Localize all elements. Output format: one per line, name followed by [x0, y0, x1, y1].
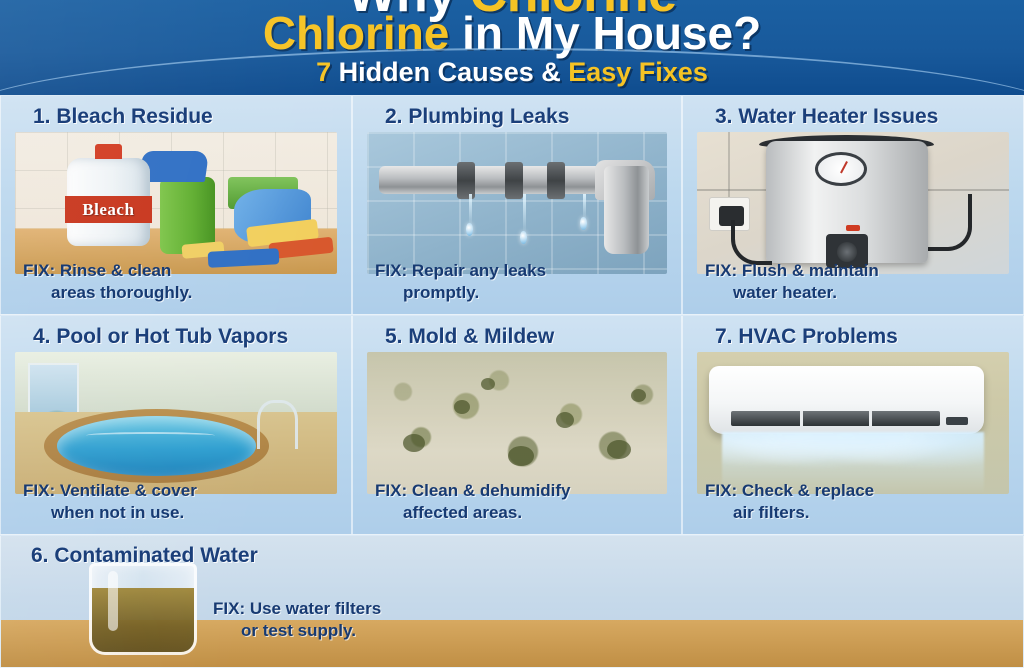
panel-mold-and-mildew: 5. Mold & Mildew FIX: Clean & dehumidify… [352, 315, 682, 535]
panel-title: 5. Mold & Mildew [353, 325, 681, 349]
fix-text: FIX: Repair any leaks promptly. [375, 260, 546, 304]
water-heater-illustration [697, 132, 1009, 274]
subtitle-mid: Hidden Causes & [331, 57, 568, 87]
fix-line-1: FIX: Check & replace [705, 481, 874, 500]
fix-line-2: water heater. [705, 282, 879, 304]
poster-subtitle: 7 Hidden Causes & Easy Fixes [0, 57, 1024, 88]
hvac-illustration [697, 352, 1009, 494]
fix-line-2: areas thoroughly. [23, 282, 192, 304]
fix-line-1: FIX: Ventilate & cover [23, 481, 197, 500]
bleach-illustration: Bleach [15, 132, 337, 274]
panel-title: 1. Bleach Residue [1, 105, 351, 129]
fix-text: FIX: Clean & dehumidify affected areas. [375, 480, 571, 524]
panel-pool-or-hot-tub-vapors: 4. Pool or Hot Tub Vapors FIX: Ventilate… [0, 315, 352, 535]
fix-line-1: FIX: Use water filters [213, 599, 381, 618]
fix-line-1: FIX: Rinse & clean [23, 261, 171, 280]
fix-line-2: affected areas. [375, 502, 571, 524]
air-conditioner-icon [709, 366, 984, 434]
fix-line-1: FIX: Clean & dehumidify [375, 481, 571, 500]
panel-title: 2. Plumbing Leaks [353, 105, 681, 129]
poster-header: Why Chlorine Chlorine in My House? 7 Hid… [0, 0, 1024, 95]
pool-illustration [15, 352, 337, 494]
plumbing-illustration [367, 132, 667, 274]
title-line-2-rest: in My House? [449, 7, 761, 59]
fix-text: FIX: Rinse & clean areas thoroughly. [23, 260, 192, 304]
panel-row-1: 1. Bleach Residue Bleach [0, 95, 1024, 315]
fix-line-2: promptly. [375, 282, 546, 304]
panel-row-3: 6. Contaminated Water FIX: Use water fil… [0, 535, 1024, 668]
bleach-jug-icon: Bleach [67, 158, 151, 246]
pressure-gauge-icon [815, 152, 867, 186]
bleach-jug-label: Bleach [65, 196, 152, 222]
pool-ladder-icon [257, 400, 299, 448]
water-glass-icon [89, 563, 197, 655]
panel-contaminated-water: 6. Contaminated Water FIX: Use water fil… [0, 535, 1024, 668]
panel-title: 7. HVAC Problems [683, 325, 1023, 349]
panel-title: 6. Contaminated Water [1, 544, 1023, 568]
panel-hvac-problems: 7. HVAC Problems FIX: Check & replace ai… [682, 315, 1024, 535]
fix-text: FIX: Ventilate & cover when not in use. [23, 480, 197, 524]
panel-water-heater-issues: 3. Water Heater Issues FIX: Flu [682, 95, 1024, 315]
fix-text: FIX: Check & replace air filters. [705, 480, 874, 524]
title-line-2: Chlorine in My House? [0, 8, 1024, 58]
panel-plumbing-leaks: 2. Plumbing Leaks [352, 95, 682, 315]
panel-bleach-residue: 1. Bleach Residue Bleach [0, 95, 352, 315]
title-line-2-highlight: Chlorine [263, 7, 450, 59]
fix-line-1: FIX: Repair any leaks [375, 261, 546, 280]
water-drip-icon [466, 223, 473, 236]
panel-grid: 1. Bleach Residue Bleach [0, 95, 1024, 668]
pool-water-icon [57, 416, 257, 476]
subtitle-number: 7 [316, 57, 331, 87]
fix-line-2: or test supply. [213, 620, 381, 642]
fix-line-1: FIX: Flush & maintain [705, 261, 879, 280]
panel-title: 3. Water Heater Issues [683, 105, 1023, 129]
infographic-poster: Why Chlorine Chlorine in My House? 7 Hid… [0, 0, 1024, 668]
fix-text: FIX: Use water filters or test supply. [213, 598, 381, 642]
fix-line-2: when not in use. [23, 502, 197, 524]
mold-illustration [367, 352, 667, 494]
fix-line-2: air filters. [705, 502, 874, 524]
fix-text: FIX: Flush & maintain water heater. [705, 260, 879, 304]
subtitle-highlight: Easy Fixes [568, 57, 708, 87]
panel-title: 4. Pool or Hot Tub Vapors [1, 325, 351, 349]
panel-row-2: 4. Pool or Hot Tub Vapors FIX: Ventilate… [0, 315, 1024, 535]
